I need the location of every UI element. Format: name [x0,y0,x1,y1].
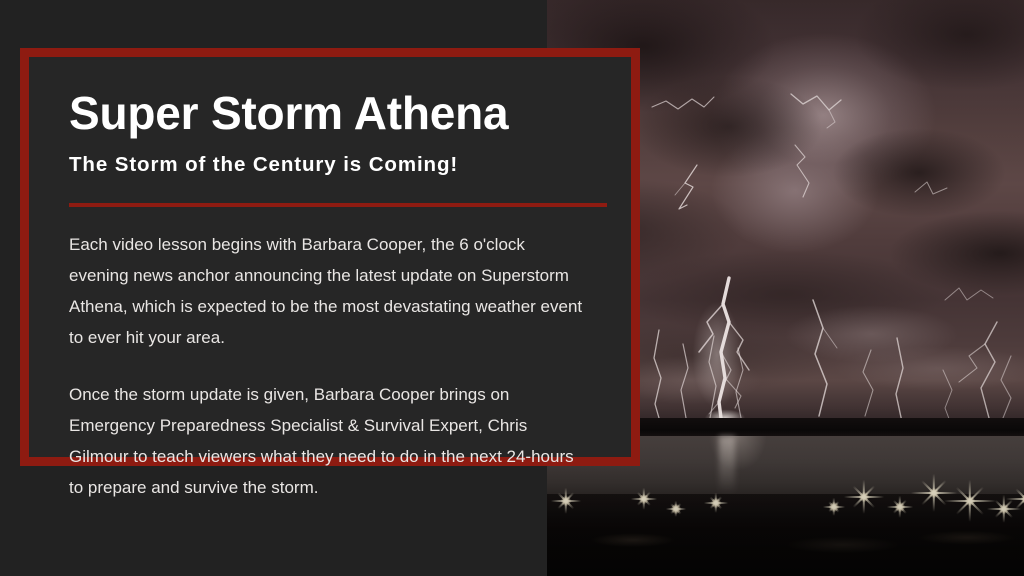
content-card-inner: Super Storm Athena The Storm of the Cent… [29,57,631,457]
body-paragraph-1: Each video lesson begins with Barbara Co… [69,229,589,353]
body-paragraph-2: Once the storm update is given, Barbara … [69,379,589,503]
content-card: Super Storm Athena The Storm of the Cent… [20,48,640,466]
page-title: Super Storm Athena [69,89,589,137]
title-divider [69,203,607,207]
page-subtitle: The Storm of the Century is Coming! [69,153,589,177]
slide-canvas: Super Storm Athena The Storm of the Cent… [0,0,1024,576]
